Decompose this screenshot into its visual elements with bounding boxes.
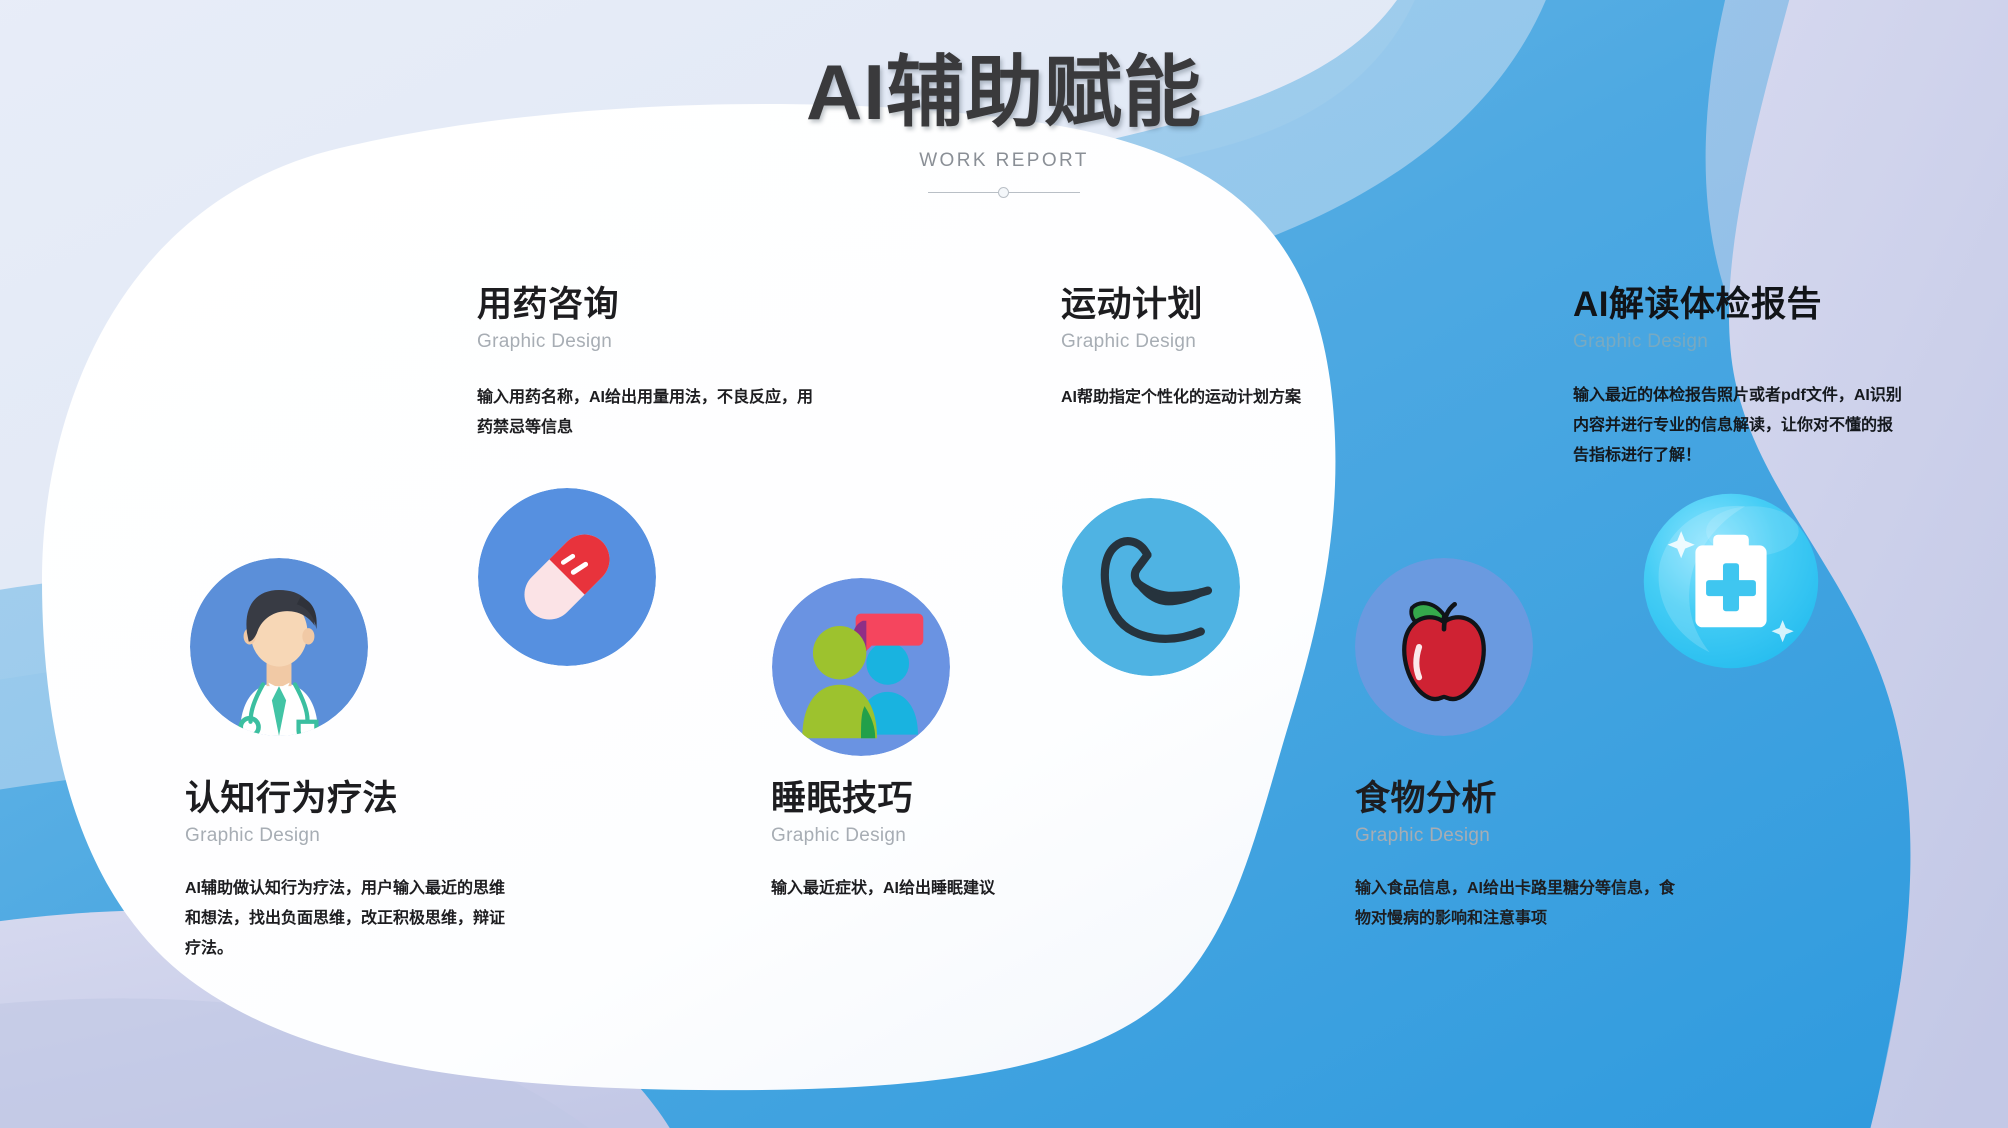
item-heading: AI解读体检报告	[1573, 285, 1903, 325]
slide-canvas: AI辅助赋能 WORK REPORT 用药咨询 Graphic Design 输…	[0, 0, 2008, 1128]
page-title: AI辅助赋能	[0, 52, 2008, 134]
muscle-icon-art	[1062, 498, 1240, 676]
text-block-food: 食物分析 Graphic Design 输入食品信息，AI给出卡路里糖分等信息，…	[1355, 779, 1685, 934]
people-talk-icon	[772, 578, 950, 756]
item-subheading: Graphic Design	[185, 825, 515, 847]
divider-dot	[998, 187, 1009, 198]
title-block: AI辅助赋能 WORK REPORT	[0, 52, 2008, 200]
item-subheading: Graphic Design	[1355, 825, 1685, 847]
title-divider	[928, 186, 1080, 200]
pill-icon	[478, 488, 656, 666]
text-block-report: AI解读体检报告 Graphic Design 输入最近的体检报告照片或者pdf…	[1573, 285, 1903, 471]
pill-icon-art	[478, 488, 656, 666]
item-heading: 运动计划	[1061, 285, 1361, 325]
item-description: 输入最近的体检报告照片或者pdf文件，AI识别内容并进行专业的信息解读，让你对不…	[1573, 381, 1903, 471]
people-talk-icon-art	[772, 578, 950, 756]
item-heading: 用药咨询	[477, 285, 827, 325]
doctor-icon	[190, 558, 368, 736]
item-heading: 睡眠技巧	[771, 779, 1071, 819]
medical-report-icon	[1642, 492, 1820, 670]
text-block-exercise: 运动计划 Graphic Design AI帮助指定个性化的运动计划方案	[1061, 285, 1361, 413]
apple-icon-art	[1355, 558, 1533, 736]
muscle-icon	[1062, 498, 1240, 676]
text-block-cbt: 认知行为疗法 Graphic Design AI辅助做认知行为疗法，用户输入最近…	[185, 779, 515, 964]
item-subheading: Graphic Design	[477, 331, 827, 353]
item-description: 输入用药名称，AI给出用量用法，不良反应，用药禁忌等信息	[477, 383, 827, 443]
medical-report-icon-art	[1642, 492, 1820, 670]
doctor-icon-art	[190, 558, 368, 736]
item-description: AI帮助指定个性化的运动计划方案	[1061, 383, 1361, 413]
item-heading: 食物分析	[1355, 779, 1685, 819]
item-heading: 认知行为疗法	[185, 779, 515, 819]
item-subheading: Graphic Design	[1573, 331, 1903, 353]
text-block-sleep: 睡眠技巧 Graphic Design 输入最近症状，AI给出睡眠建议	[771, 779, 1071, 904]
item-description: AI辅助做认知行为疗法，用户输入最近的思维和想法，找出负面思维，改正积极思维，辩…	[185, 874, 515, 964]
item-description: 输入最近症状，AI给出睡眠建议	[771, 874, 1071, 904]
item-subheading: Graphic Design	[1061, 331, 1361, 353]
page-subtitle: WORK REPORT	[0, 150, 2008, 172]
item-description: 输入食品信息，AI给出卡路里糖分等信息，食物对慢病的影响和注意事项	[1355, 874, 1685, 934]
item-subheading: Graphic Design	[771, 825, 1071, 847]
text-block-medication: 用药咨询 Graphic Design 输入用药名称，AI给出用量用法，不良反应…	[477, 285, 827, 443]
apple-icon	[1355, 558, 1533, 736]
